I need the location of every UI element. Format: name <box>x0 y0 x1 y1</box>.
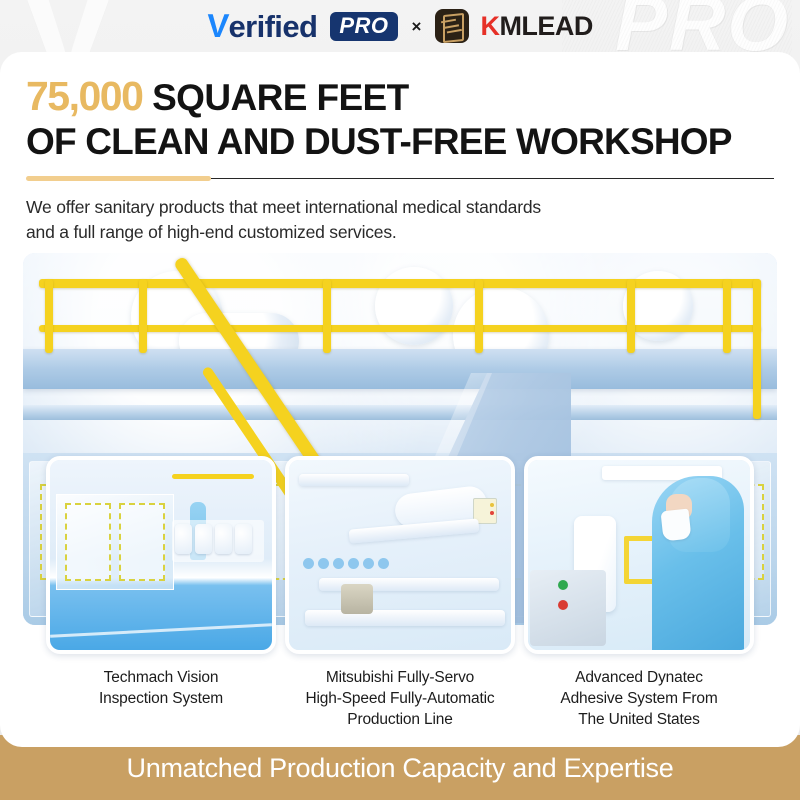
thumb1-reel <box>175 524 192 554</box>
thumb3-adhesive-machine <box>530 570 606 646</box>
headline-divider <box>26 176 774 181</box>
thumb3-start-button <box>558 580 568 590</box>
caption-line: Inspection System <box>46 688 276 709</box>
thumb1-cabinet-window <box>119 503 165 581</box>
feature-thumbnail-image-1 <box>46 456 276 654</box>
verified-logo-text: erified <box>228 11 317 42</box>
hero-rail-post <box>45 279 53 353</box>
thumb2-overhead-bar <box>299 474 409 486</box>
caption-line: The United States <box>524 709 754 730</box>
verified-logo: Verified <box>207 10 317 42</box>
cross-separator-icon: × <box>412 18 422 35</box>
thumb1-reel <box>215 524 232 554</box>
thumb3-stop-button <box>558 600 568 610</box>
feature-card: Advanced Dynatec Adhesive System From Th… <box>524 456 754 730</box>
hero-upper-machine-band <box>23 349 777 389</box>
caption-line: Production Line <box>285 709 515 730</box>
caption-line: Techmach Vision <box>46 667 276 688</box>
thumb2-suction-cup <box>333 558 344 569</box>
thumb1-reel-rack <box>172 520 264 562</box>
hero-rail-post <box>475 279 483 353</box>
thumb2-suction-cup <box>363 558 374 569</box>
caption-line: Adhesive System From <box>524 688 754 709</box>
hero-rail-post <box>627 279 635 353</box>
caption-line: High-Speed Fully-Automatic <box>285 688 515 709</box>
caption-line: Advanced Dynatec <box>524 667 754 688</box>
thumb2-drum-roller <box>341 584 373 614</box>
thumb3-face-mask <box>661 509 692 542</box>
pro-badge: PRO <box>330 12 397 41</box>
feature-thumbnail-image-3 <box>524 456 754 654</box>
feature-card: Techmach Vision Inspection System <box>46 456 276 730</box>
thumb2-indicator-light <box>490 503 494 507</box>
thumb1-reel <box>235 524 252 554</box>
headline-line-1-rest: SQUARE FEET <box>152 77 409 118</box>
thumb1-machine-cabinet <box>56 494 174 590</box>
thumb2-indicator-light <box>490 511 494 515</box>
kimlead-logo-icon <box>435 9 469 43</box>
feature-caption-3: Advanced Dynatec Adhesive System From Th… <box>524 667 754 730</box>
footer-tagline: Unmatched Production Capacity and Expert… <box>127 753 674 783</box>
thumb2-conveyor-bar <box>305 610 505 626</box>
thumb2-suction-cup-row <box>303 558 395 570</box>
kimlead-letters-rest: MLEAD <box>499 13 593 40</box>
headline-block: 75,000 SQUARE FEET OF CLEAN AND DUST-FRE… <box>0 52 800 164</box>
hero-rail-post <box>753 279 761 419</box>
hero-rail-post <box>723 279 731 353</box>
thumb2-suction-cup <box>318 558 329 569</box>
headline-number: 75,000 <box>26 73 142 119</box>
thumb2-suction-cup <box>378 558 389 569</box>
thumb1-cabinet-window <box>65 503 111 581</box>
thumb2-suction-cup <box>303 558 314 569</box>
subheadline-line-1: We offer sanitary products that meet int… <box>26 195 774 220</box>
feature-card: Mitsubishi Fully-Servo High-Speed Fully-… <box>285 456 515 730</box>
feature-thumbnail-image-2 <box>285 456 515 654</box>
feature-caption-1: Techmach Vision Inspection System <box>46 667 276 709</box>
hero-safety-rail-mid <box>39 325 761 332</box>
thumb2-suction-cup <box>348 558 359 569</box>
hero-rail-post <box>139 279 147 353</box>
feature-caption-2: Mitsubishi Fully-Servo High-Speed Fully-… <box>285 667 515 730</box>
headline-line-2: OF CLEAN AND DUST-FREE WORKSHOP <box>26 120 774 164</box>
subheadline-block: We offer sanitary products that meet int… <box>26 195 774 245</box>
kimlead-letter-k: K <box>480 13 499 40</box>
hero-structural-beam <box>23 405 777 420</box>
verified-check-v-icon: V <box>206 10 229 41</box>
hero-safety-rail-top <box>39 279 761 288</box>
brand-header: Verified PRO × KMLEAD <box>0 0 800 52</box>
kimlead-wordmark: KMLEAD <box>480 13 593 40</box>
thumb1-reel <box>195 524 212 554</box>
subheadline-line-2: and a full range of high-end customized … <box>26 220 774 245</box>
caption-line: Mitsubishi Fully-Servo <box>285 667 515 688</box>
headline-line-1: 75,000 SQUARE FEET <box>26 74 774 120</box>
thumb1-yellow-rail <box>172 474 254 479</box>
infographic-page: V PRO Verified PRO × KMLEAD 75,000 SQUAR… <box>0 0 800 800</box>
content-card: 75,000 SQUARE FEET OF CLEAN AND DUST-FRE… <box>0 52 800 747</box>
divider-gold-segment <box>26 176 211 181</box>
hero-rail-post <box>323 279 331 353</box>
feature-thumbnail-row: Techmach Vision Inspection System <box>0 456 800 730</box>
divider-thin-line <box>211 178 774 179</box>
